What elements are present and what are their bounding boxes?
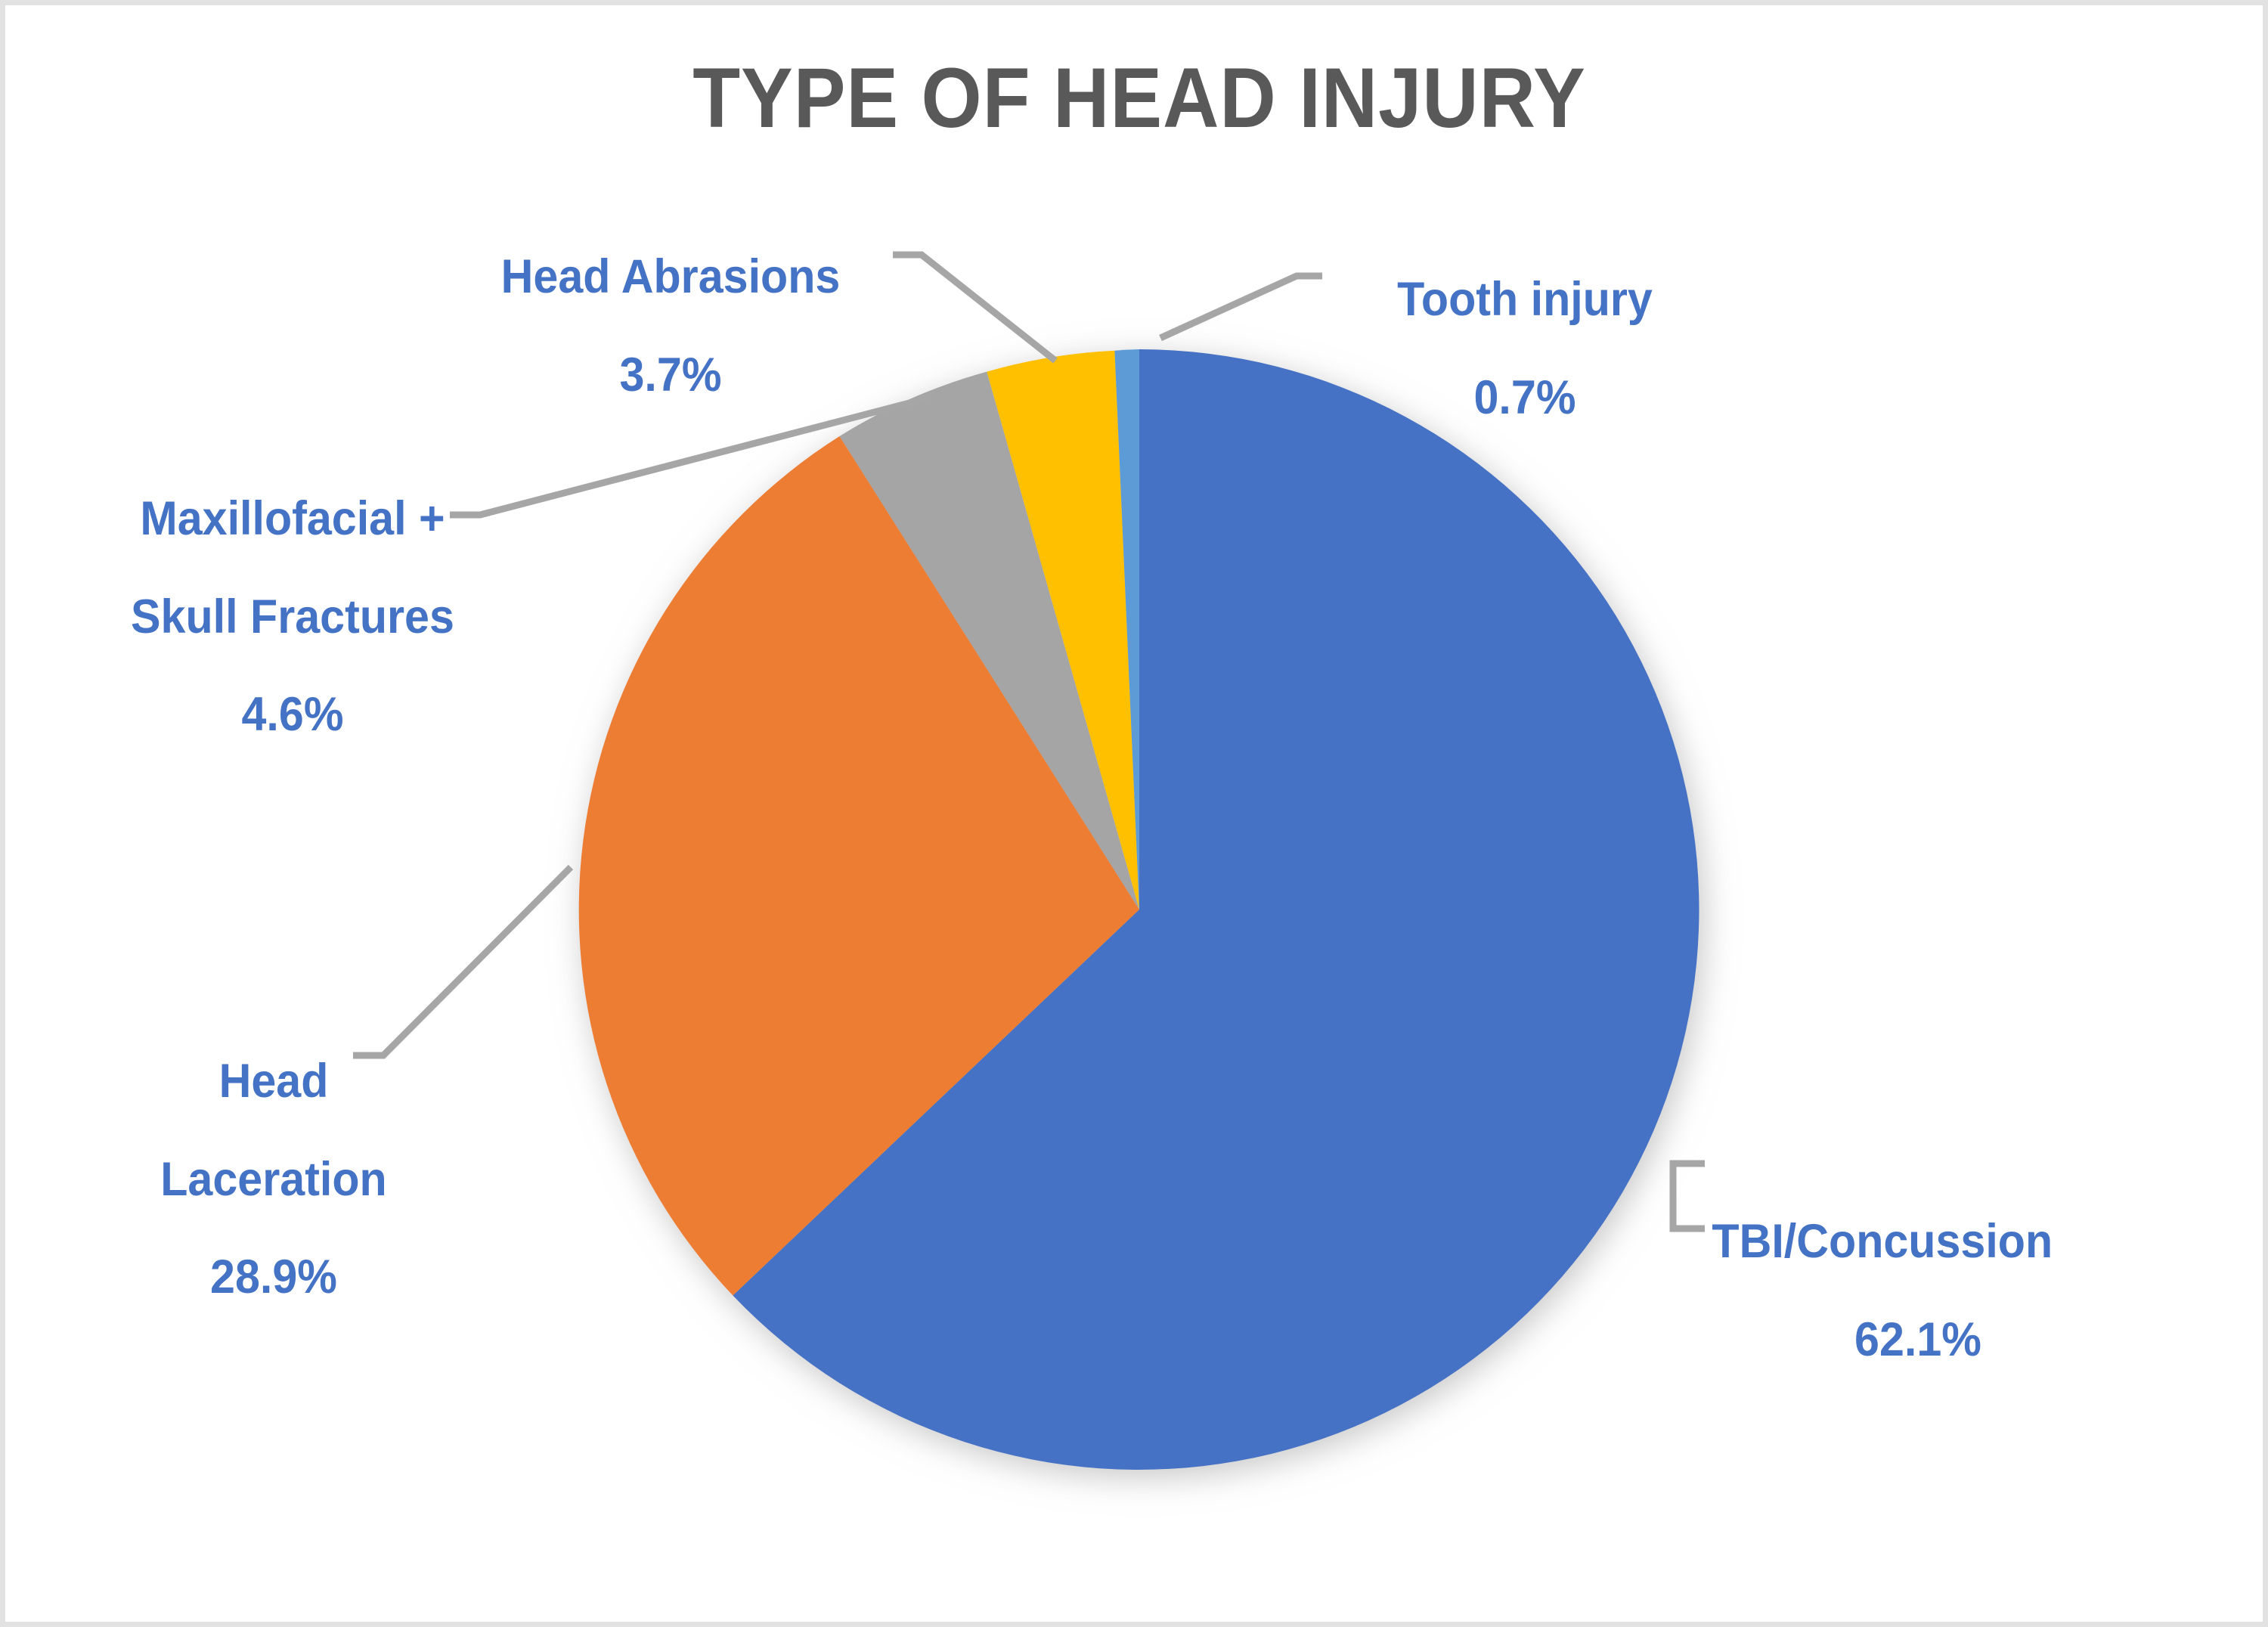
slice-label-name-line2: Laceration bbox=[107, 1155, 441, 1204]
pie-chart-area: Head Abrasions 3.7% Tooth injury 0.7% Ma… bbox=[5, 5, 2268, 1627]
slice-label-name: Head Abrasions bbox=[443, 253, 898, 302]
chart-canvas: TYPE OF HEAD INJURY bbox=[0, 0, 2268, 1627]
slice-label-tooth-injury: Tooth injury 0.7% bbox=[1333, 226, 1717, 471]
slice-label-name-line1: Head bbox=[107, 1057, 441, 1106]
slice-label-maxillofacial: Maxillofacial + Skull Fractures 4.6% bbox=[73, 445, 513, 789]
leader-line-tooth-injury bbox=[1160, 276, 1322, 338]
slice-label-name: TBI/Concussion bbox=[1712, 1217, 2124, 1266]
slice-label-head-abrasions: Head Abrasions 3.7% bbox=[443, 203, 898, 448]
slice-label-value: 62.1% bbox=[1712, 1316, 2124, 1365]
slice-label-tbi: TBI/Concussion 62.1% bbox=[1712, 1168, 2124, 1413]
leader-line-head-abrasions bbox=[893, 255, 1055, 361]
slice-label-value: 28.9% bbox=[107, 1253, 441, 1302]
slice-label-value: 3.7% bbox=[443, 351, 898, 400]
slice-label-value: 0.7% bbox=[1333, 373, 1717, 423]
slice-label-name-line1: Maxillofacial + bbox=[73, 494, 513, 544]
slice-label-name: Tooth injury bbox=[1333, 275, 1717, 324]
slice-label-head-laceration: Head Laceration 28.9% bbox=[107, 1008, 441, 1351]
slice-label-name-line2: Skull Fractures bbox=[73, 593, 513, 642]
leader-line-tbi bbox=[1673, 1164, 1705, 1229]
slice-label-value: 4.6% bbox=[73, 690, 513, 739]
